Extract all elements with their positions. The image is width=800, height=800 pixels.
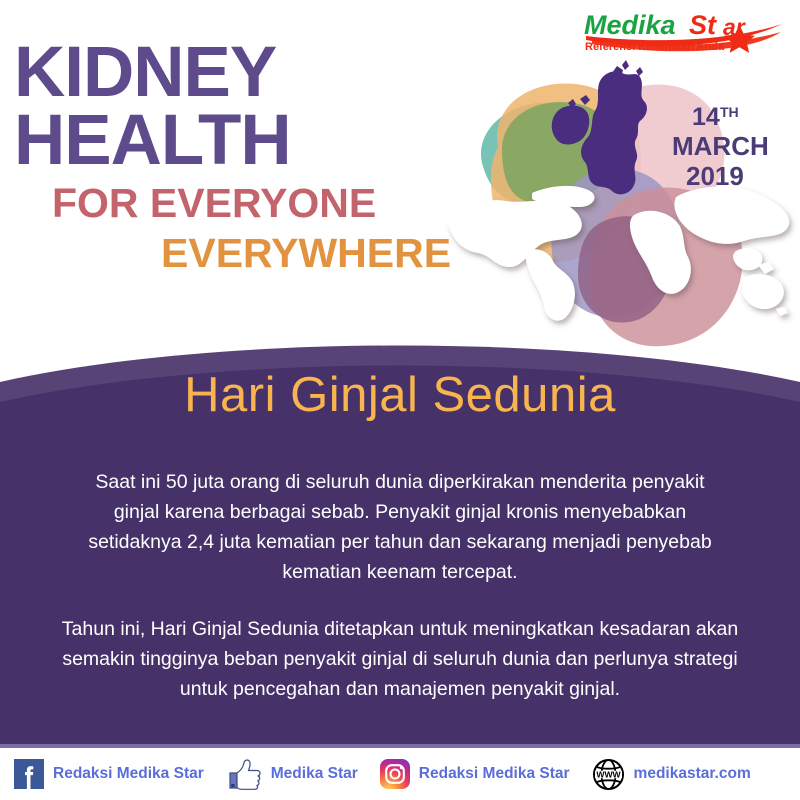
footer-item-instagram[interactable]: Redaksi Medika Star (380, 759, 570, 789)
page-title: Hari Ginjal Sedunia (0, 355, 800, 423)
footer-item-facebook[interactable]: Redaksi Medika Star (14, 759, 204, 789)
instagram-icon[interactable] (380, 759, 410, 789)
footer-item-website[interactable]: WWW medikastar.com (592, 758, 751, 791)
headline-kidney: KIDNEY (14, 40, 451, 106)
logo-star-text-2: ar (723, 14, 746, 40)
logo-medika-text: Medika (584, 10, 676, 40)
medika-star-logo[interactable]: Medika St ar Referensi Kesehatan Anda (576, 6, 786, 58)
date-year-text: 2019 (686, 161, 744, 191)
body-paragraph-1: Saat ini 50 juta orang di seluruh dunia … (75, 467, 725, 587)
date-month-text: MARCH (672, 131, 769, 161)
headline-everywhere: EVERYWHERE (161, 230, 451, 277)
footer-item-facebook-page[interactable]: Medika Star (228, 758, 358, 790)
logo-tagline-text: Referensi Kesehatan Anda (585, 41, 725, 53)
footer-label-website: medikastar.com (634, 765, 751, 783)
logo-star-text: St (689, 10, 717, 40)
headline-for-everyone: FOR EVERYONE (52, 180, 451, 227)
body-paragraph-2: Tahun ini, Hari Ginjal Sedunia ditetapka… (44, 614, 756, 704)
poster-canvas: Medika St ar Referensi Kesehatan Anda KI… (0, 0, 800, 800)
thumbs-up-icon[interactable] (228, 758, 262, 790)
globe-www-text: WWW (596, 769, 621, 779)
globe-www-icon[interactable]: WWW (592, 758, 625, 791)
headline-health: HEALTH (14, 108, 451, 174)
social-footer: Redaksi Medika Star Medika Star (0, 748, 800, 800)
facebook-icon[interactable] (14, 759, 44, 789)
date-ordinal-text: TH (720, 104, 739, 120)
footer-label-facebook-page: Medika Star (271, 765, 358, 783)
panel-content: Hari Ginjal Sedunia Saat ini 50 juta ora… (0, 355, 800, 704)
date-day-text: 14 (692, 103, 720, 131)
headline-block: KIDNEY HEALTH FOR EVERYONE EVERYWHERE (14, 40, 451, 277)
footer-label-instagram: Redaksi Medika Star (419, 765, 570, 783)
footer-label-facebook: Redaksi Medika Star (53, 765, 204, 783)
